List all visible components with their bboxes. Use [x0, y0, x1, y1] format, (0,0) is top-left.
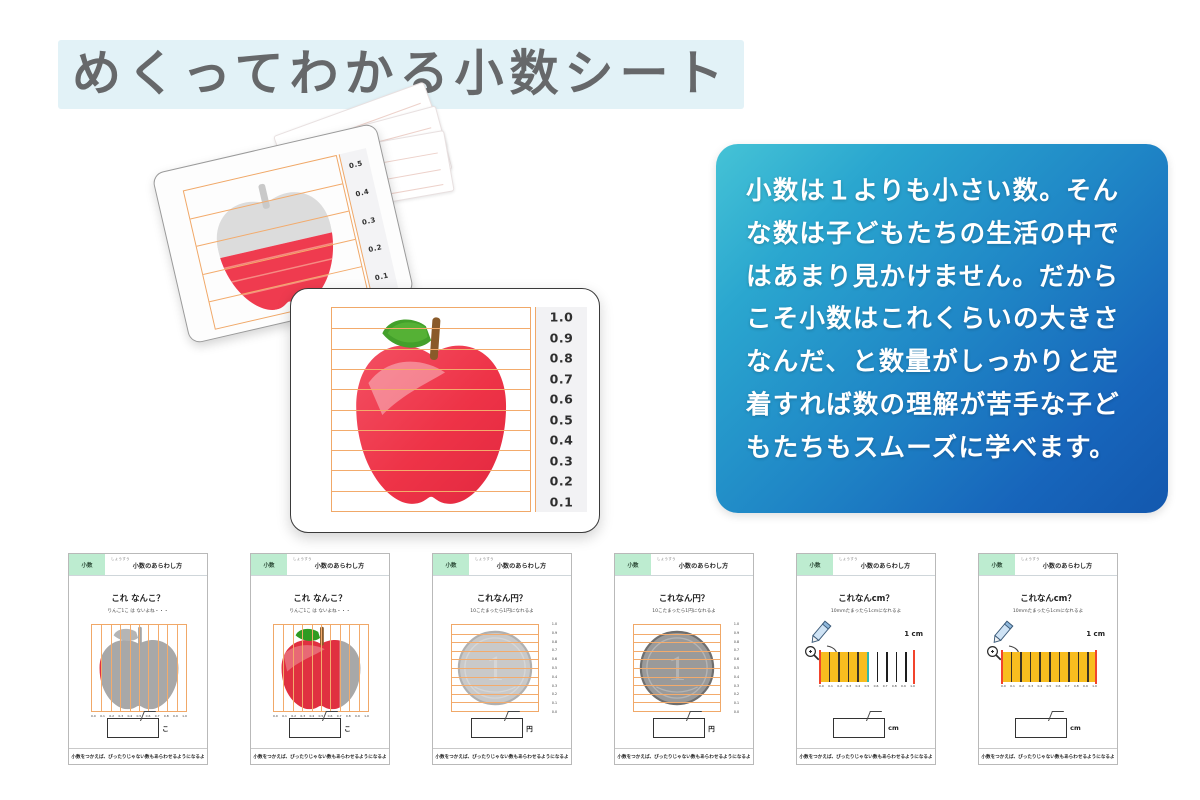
scale-tick: 0.1	[368, 270, 396, 284]
answer-row[interactable]: cm	[797, 718, 935, 738]
hero-card-stack: 0.5 0.4 0.3 0.2 0.1	[150, 110, 670, 540]
worksheet-question: これなんcm？	[797, 592, 935, 604]
scale-tick: 0.8	[536, 351, 587, 366]
furigana: しょうすう	[475, 556, 494, 561]
ruler-graphic	[1001, 652, 1097, 682]
worksheet-question: これなんcm？	[979, 592, 1117, 604]
subject-tab: 小数	[979, 554, 1015, 575]
furigana: しょうすう	[111, 556, 130, 561]
furigana: しょうすう	[293, 556, 312, 561]
axis-tick: 0.9	[1083, 684, 1088, 688]
worksheet-thumbnail-2[interactable]: 小数 しょうすう 小数のあらわし方 これ なんこ？ りんご1こ は ないよね・・…	[250, 553, 390, 765]
worksheet-question: これなん円？	[615, 592, 753, 604]
axis-tick: 0.8	[734, 640, 739, 644]
answer-box[interactable]	[653, 718, 705, 738]
axis-ticks: 0.00.10.20.30.40.50.60.70.80.91.0	[819, 684, 915, 688]
answer-unit: 円	[526, 723, 533, 733]
decimal-scale-full: 1.0 0.9 0.8 0.7 0.6 0.5 0.4 0.3 0.2 0.1	[535, 307, 587, 512]
axis-tick: 1.0	[552, 622, 557, 626]
axis-tick: 0.5	[734, 666, 739, 670]
answer-row[interactable]: 円	[615, 718, 753, 738]
axis-tick: 0.2	[1019, 684, 1024, 688]
worksheet-footer: 小数をつかえば、ぴったりじゃない数もあらわせるようになるよ	[69, 748, 207, 764]
worksheet-question: これ なんこ？	[251, 592, 389, 604]
worksheet-footer: 小数をつかえば、ぴったりじゃない数もあらわせるようになるよ	[251, 748, 389, 764]
worksheet-question: これ なんこ？	[69, 592, 207, 604]
worksheet-footer: 小数をつかえば、ぴったりじゃない数もあらわせるようになるよ	[797, 748, 935, 764]
axis-tick: 0.6	[734, 657, 739, 661]
axis-tick: 0.2	[734, 692, 739, 696]
worksheet-footer: 小数をつかえば、ぴったりじゃない数もあらわせるようになるよ	[433, 748, 571, 764]
worksheet-title: 小数のあらわし方	[1021, 561, 1114, 570]
answer-box[interactable]	[833, 718, 885, 738]
axis-tick: 0.2	[837, 684, 842, 688]
answer-box[interactable]	[289, 718, 341, 738]
worksheet-subtitle: 10こたまったら1円になれるよ	[615, 608, 753, 614]
worksheet-figure: 1 1.00.90.80.70.60.50.40.30.20.10.0	[433, 622, 571, 726]
worksheet-question: これなん円？	[433, 592, 571, 604]
worksheet-subtitle: りんご1こ は ないよね・・・	[251, 608, 389, 614]
axis-tick: 0.6	[552, 657, 557, 661]
answer-unit: cm	[1070, 724, 1081, 732]
answer-box[interactable]	[1015, 718, 1067, 738]
scale-tick: 0.3	[355, 214, 383, 228]
worksheet-title: 小数のあらわし方	[839, 561, 932, 570]
axis-tick: 1.0	[910, 684, 915, 688]
axis-tick: 0.7	[883, 684, 888, 688]
subject-tab: 小数	[615, 554, 651, 575]
worksheet-figure: 0.00.10.20.30.40.50.60.70.80.91.0	[69, 622, 207, 726]
worksheet-thumbnail-5[interactable]: 小数 しょうすう 小数のあらわし方 これなんcm？ 10mmたまったら1cmにな…	[796, 553, 936, 765]
axis-tick: 0.1	[734, 701, 739, 705]
cm-label: 1 cm	[1086, 630, 1105, 638]
chart-plot	[331, 307, 531, 512]
furigana: しょうすう	[657, 556, 676, 561]
axis-tick: 0.3	[734, 684, 739, 688]
answer-box[interactable]	[471, 718, 523, 738]
info-panel: 小数は１よりも小さい数。そんな数は子どもたちの生活の中ではあまり見かけません。だ…	[716, 144, 1168, 513]
axis-tick: 0.9	[901, 684, 906, 688]
worksheet-figure: 1 1.00.90.80.70.60.50.40.30.20.10.0	[615, 622, 753, 726]
axis-tick: 0.1	[828, 684, 833, 688]
axis-tick: 0.6	[1056, 684, 1061, 688]
worksheet-thumbnail-row: 小数 しょうすう 小数のあらわし方 これ なんこ？ りんご1こ は ないよね・・…	[0, 553, 1200, 773]
worksheet-subtitle: 10mmたまったら1cmになれるよ	[979, 608, 1117, 614]
cm-label: 1 cm	[904, 630, 923, 638]
worksheet-header: 小数 しょうすう 小数のあらわし方	[433, 554, 571, 576]
axis-tick: 0.4	[734, 675, 739, 679]
worksheet-thumbnail-1[interactable]: 小数 しょうすう 小数のあらわし方 これ なんこ？ りんご1こ は ないよね・・…	[68, 553, 208, 765]
info-panel-text: 小数は１よりも小さい数。そんな数は子どもたちの生活の中ではあまり見かけません。だ…	[746, 170, 1144, 470]
worksheet-header: 小数 しょうすう 小数のあらわし方	[69, 554, 207, 576]
axis-tick: 0.0	[819, 684, 824, 688]
answer-unit: cm	[888, 724, 899, 732]
axis-tick: 0.4	[855, 684, 860, 688]
apple-grid-panel	[273, 624, 369, 712]
poster-page: めくってわかる小数シート 小数は１よりも小さい数。そんな数は子どもたちの生活の中…	[0, 0, 1200, 800]
axis-tick: 0.3	[846, 684, 851, 688]
axis-tick: 1.0	[1092, 684, 1097, 688]
worksheet-header: 小数 しょうすう 小数のあらわし方	[251, 554, 389, 576]
subject-tab: 小数	[797, 554, 833, 575]
furigana: しょうすう	[839, 556, 858, 561]
axis-tick: 1.0	[734, 622, 739, 626]
axis-tick: 0.3	[1028, 684, 1033, 688]
answer-row[interactable]: 円	[433, 718, 571, 738]
axis-tick: 0.0	[734, 710, 739, 714]
answer-row[interactable]: cm	[979, 718, 1117, 738]
worksheet-subtitle: 10mmたまったら1cmになれるよ	[797, 608, 935, 614]
answer-row[interactable]: こ	[251, 718, 389, 738]
worksheet-thumbnail-3[interactable]: 小数 しょうすう 小数のあらわし方 これなん円？ 10こたまったら1円になれるよ…	[432, 553, 572, 765]
scale-tick: 0.7	[536, 371, 587, 386]
axis-tick: 0.4	[552, 675, 557, 679]
axis-tick: 0.6	[874, 684, 879, 688]
axis-tick: 0.7	[1065, 684, 1070, 688]
subject-tab: 小数	[69, 554, 105, 575]
worksheet-title: 小数のあらわし方	[657, 561, 750, 570]
worksheet-thumbnail-4[interactable]: 小数 しょうすう 小数のあらわし方 これなん円？ 10こたまったら1円になれるよ…	[614, 553, 754, 765]
worksheet-title: 小数のあらわし方	[111, 561, 204, 570]
scale-tick: 0.5	[536, 412, 587, 427]
worksheet-thumbnail-6[interactable]: 小数 しょうすう 小数のあらわし方 これなんcm？ 10mmたまったら1cmにな…	[978, 553, 1118, 765]
worksheet-header: 小数 しょうすう 小数のあらわし方	[615, 554, 753, 576]
axis-tick: 0.7	[734, 648, 739, 652]
apple-full-graphic	[344, 312, 518, 511]
worksheet-figure: 1 cm 0.00.10.20.30.40.50.60.70.80.91.0	[979, 622, 1117, 726]
scale-tick: 1.0	[536, 310, 587, 325]
axis-tick: 0.1	[552, 701, 557, 705]
scale-tick: 0.2	[361, 242, 389, 256]
axis-tick: 0.9	[734, 631, 739, 635]
axis-tick: 0.7	[552, 648, 557, 652]
scale-tick: 0.5	[342, 158, 370, 172]
scale-tick: 0.4	[536, 433, 587, 448]
worksheet-figure: 0.00.10.20.30.40.50.60.70.80.91.0	[251, 622, 389, 726]
axis-tick: 0.0	[1001, 684, 1006, 688]
scale-tick: 0.6	[536, 392, 587, 407]
axis-ticks: 1.00.90.80.70.60.50.40.30.20.10.0	[541, 624, 559, 712]
axis-tick: 0.0	[552, 710, 557, 714]
scale-tick: 0.3	[536, 453, 587, 468]
worksheet-figure: 1 cm 0.00.10.20.30.40.50.60.70.80.91.0	[797, 622, 935, 726]
scale-tick: 0.4	[348, 186, 376, 200]
axis-tick: 0.5	[1047, 684, 1052, 688]
worksheet-subtitle: りんご1こ は ないよね・・・	[69, 608, 207, 614]
axis-tick: 0.2	[552, 692, 557, 696]
scale-tick: 0.2	[536, 474, 587, 489]
worksheet-footer: 小数をつかえば、ぴったりじゃない数もあらわせるようになるよ	[615, 748, 753, 764]
axis-tick: 0.8	[552, 640, 557, 644]
axis-tick: 0.5	[552, 666, 557, 670]
coin-grid-panel: 1	[451, 624, 539, 712]
subject-tab: 小数	[251, 554, 287, 575]
apple-grid-panel	[91, 624, 187, 712]
axis-tick: 0.5	[865, 684, 870, 688]
furigana: しょうすう	[1021, 556, 1040, 561]
answer-unit: 円	[708, 723, 715, 733]
scale-tick: 0.9	[536, 330, 587, 345]
worksheet-header: 小数 しょうすう 小数のあらわし方	[797, 554, 935, 576]
decimal-card-full[interactable]: 1.0 0.9 0.8 0.7 0.6 0.5 0.4 0.3 0.2 0.1	[290, 288, 600, 533]
subject-tab: 小数	[433, 554, 469, 575]
axis-tick: 0.1	[1010, 684, 1015, 688]
answer-unit: こ	[344, 723, 351, 733]
axis-ticks: 1.00.90.80.70.60.50.40.30.20.10.0	[723, 624, 741, 712]
answer-box[interactable]	[107, 718, 159, 738]
worksheet-title: 小数のあらわし方	[475, 561, 568, 570]
worksheet-subtitle: 10こたまったら1円になれるよ	[433, 608, 571, 614]
answer-row[interactable]: こ	[69, 718, 207, 738]
scale-tick: 0.1	[536, 494, 587, 509]
decimal-chart-full: 1.0 0.9 0.8 0.7 0.6 0.5 0.4 0.3 0.2 0.1	[331, 307, 587, 512]
axis-tick: 0.8	[1074, 684, 1079, 688]
ruler-graphic	[819, 652, 915, 682]
axis-tick: 0.4	[1037, 684, 1042, 688]
axis-ticks: 0.00.10.20.30.40.50.60.70.80.91.0	[1001, 684, 1097, 688]
answer-unit: こ	[162, 723, 169, 733]
axis-tick: 0.9	[552, 631, 557, 635]
worksheet-title: 小数のあらわし方	[293, 561, 386, 570]
worksheet-footer: 小数をつかえば、ぴったりじゃない数もあらわせるようになるよ	[979, 748, 1117, 764]
axis-tick: 0.8	[892, 684, 897, 688]
coin-grid-panel: 1	[633, 624, 721, 712]
worksheet-header: 小数 しょうすう 小数のあらわし方	[979, 554, 1117, 576]
axis-tick: 0.3	[552, 684, 557, 688]
